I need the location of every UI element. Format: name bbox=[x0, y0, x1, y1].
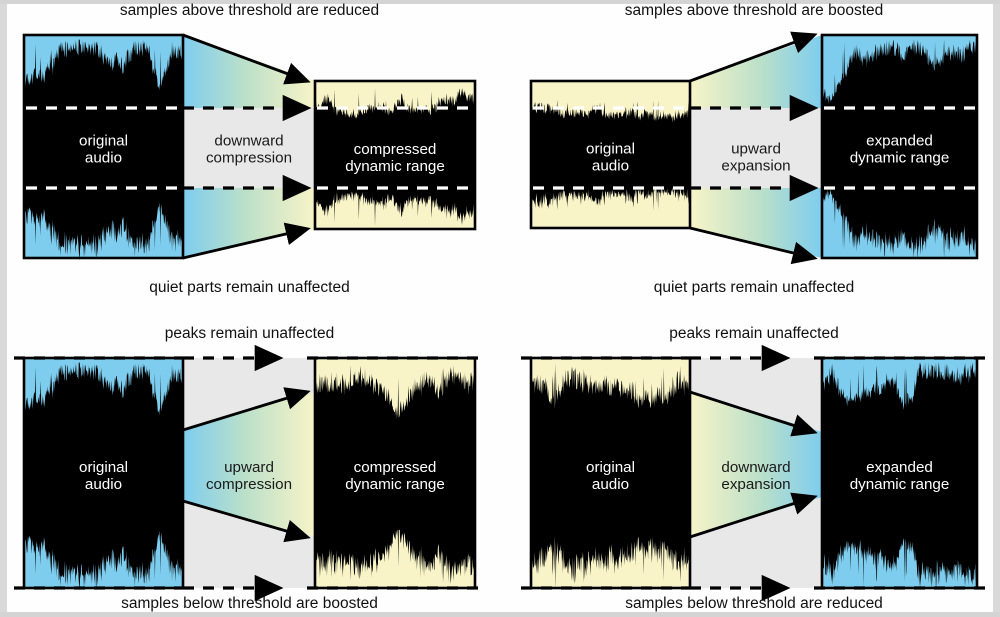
right-panel-label-line1: compressed bbox=[354, 459, 437, 476]
right-panel-label-line1: compressed bbox=[354, 141, 437, 158]
bottom-caption: samples below threshold are boosted bbox=[121, 595, 378, 612]
wedge-lower bbox=[690, 188, 822, 258]
left-panel-label-line2: audio bbox=[592, 158, 629, 175]
figure-root: originalaudiodownwardcompressioncompress… bbox=[0, 0, 1000, 617]
left-panel-label-line1: original bbox=[79, 133, 128, 150]
right-panel-label-line1: expanded bbox=[866, 133, 933, 150]
right-panel-label-line2: dynamic range bbox=[345, 158, 445, 175]
middle-panel-label-line2: compression bbox=[206, 150, 292, 167]
top-caption: peaks remain unaffected bbox=[165, 325, 334, 342]
left-panel-label-line1: original bbox=[586, 141, 635, 158]
left-panel-label-line1: original bbox=[79, 459, 128, 476]
left-panel-label-line1: original bbox=[586, 459, 635, 476]
wedge-lower bbox=[183, 188, 315, 258]
right-panel-label-line1: expanded bbox=[866, 459, 933, 476]
bottom-caption: quiet parts remain unaffected bbox=[654, 279, 854, 296]
top-caption: peaks remain unaffected bbox=[669, 325, 838, 342]
wedge-upper bbox=[690, 35, 822, 108]
middle-panel-label-line1: downward bbox=[721, 459, 790, 476]
bottom-caption: quiet parts remain unaffected bbox=[149, 279, 349, 296]
wedge-upper bbox=[183, 35, 315, 108]
middle-panel-label-line1: upward bbox=[731, 141, 781, 158]
top-caption: samples above threshold are reduced bbox=[120, 2, 379, 19]
middle-panel-label-line2: expansion bbox=[721, 476, 790, 493]
top-caption: samples above threshold are boosted bbox=[625, 2, 884, 19]
bottom-caption: samples below threshold are reduced bbox=[625, 595, 883, 612]
middle-panel-label-line1: downward bbox=[214, 133, 283, 150]
middle-panel-label-line1: upward bbox=[224, 459, 274, 476]
left-panel-label-line2: audio bbox=[85, 150, 122, 167]
middle-panel-label-line2: expansion bbox=[721, 158, 790, 175]
right-panel-label-line2: dynamic range bbox=[345, 476, 445, 493]
left-panel-label-line2: audio bbox=[85, 476, 122, 493]
middle-panel-label-line2: compression bbox=[206, 476, 292, 493]
right-panel-label-line2: dynamic range bbox=[850, 150, 950, 167]
left-panel-label-line2: audio bbox=[592, 476, 629, 493]
right-panel-label-line2: dynamic range bbox=[850, 476, 950, 493]
diagram-canvas: originalaudiodownwardcompressioncompress… bbox=[0, 0, 1000, 617]
